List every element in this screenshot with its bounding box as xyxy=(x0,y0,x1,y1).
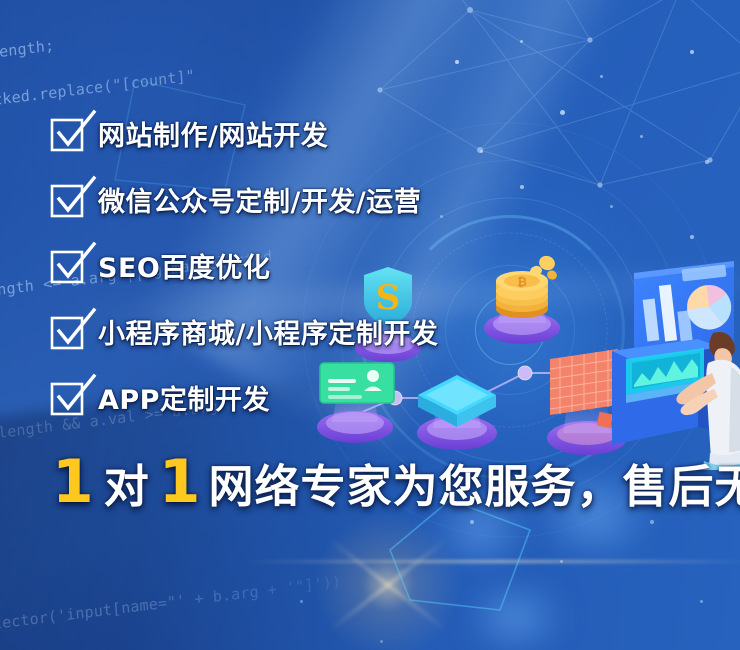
feature-label: APP定制开发 xyxy=(98,378,270,417)
code-line: e = d.filter(":checked").length; xyxy=(0,0,740,90)
feature-label: 小程序商城/小程序定制开发 xyxy=(98,312,438,351)
feature-label: 微信公众号定制/开发/运营 xyxy=(98,180,421,219)
feature-item-miniapp[interactable]: 小程序商城/小程序定制开发 xyxy=(52,298,692,364)
feature-item-app[interactable]: APP定制开发 xyxy=(52,364,692,430)
lens-flare-icon xyxy=(303,500,473,650)
feature-item-wechat[interactable]: 微信公众号定制/开发/运营 xyxy=(52,166,692,232)
tagline-number-second: 1 xyxy=(157,452,203,512)
feature-label: SEO百度优化 xyxy=(98,246,270,285)
checkbox-checked-icon[interactable] xyxy=(52,316,82,346)
tagline: 1 对 1 网络专家为您服务，售后无忧！ xyxy=(50,452,740,512)
feature-list: 网站制作/网站开发 微信公众号定制/开发/运营 SEO百度优化 xyxy=(52,100,692,430)
code-line: = d.index(b.el)) { xyxy=(0,0,740,43)
checkbox-checked-icon[interactable] xyxy=(52,382,82,412)
tagline-rest: 网络专家为您服务，售后无忧！ xyxy=(209,464,740,509)
checkbox-checked-icon[interactable] xyxy=(52,118,82,148)
feature-label: 网站制作/网站开发 xyxy=(98,114,328,153)
checkbox-checked-icon[interactable] xyxy=(52,184,82,214)
feature-item-website[interactable]: 网站制作/网站开发 xyxy=(52,100,692,166)
tagline-number-first: 1 xyxy=(50,452,96,512)
promo-banner: q.querySelectorAll('input[type=checkbox]… xyxy=(0,0,740,650)
feature-item-seo[interactable]: SEO百度优化 xyxy=(52,232,692,298)
checkbox-checked-icon[interactable] xyxy=(52,250,82,280)
tagline-word: 对 xyxy=(104,464,149,509)
